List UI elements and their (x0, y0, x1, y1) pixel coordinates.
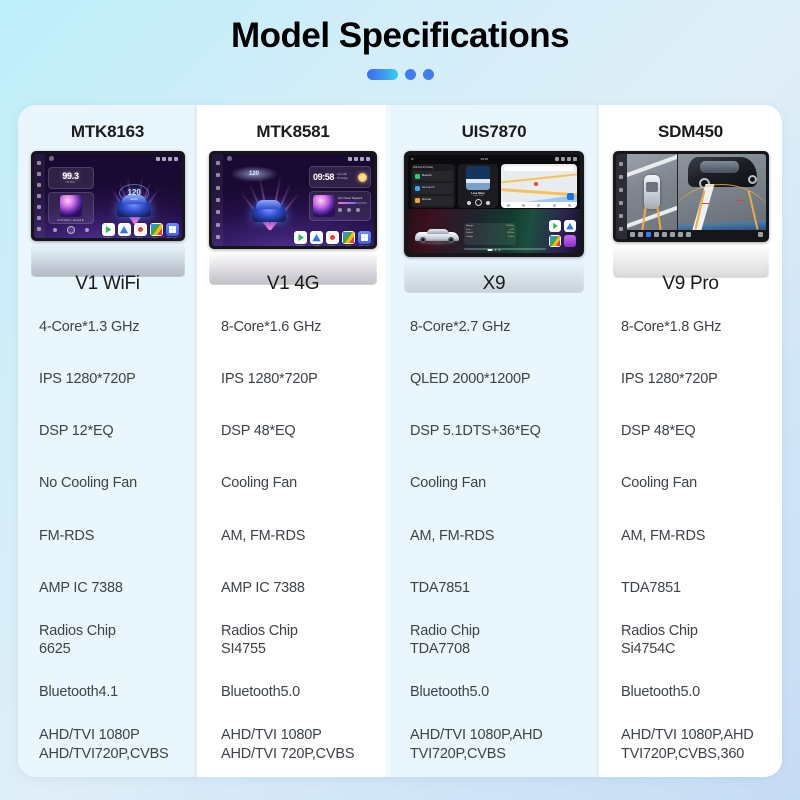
status-right-icons (555, 157, 577, 161)
head-unit-bezel: 120 km/h 99.3 FM MHz Hi-Fi Music / Jessi… (31, 151, 185, 241)
car-top-view-graphic (644, 175, 660, 209)
chipset-name: MTK8163 (18, 105, 197, 151)
car-graphic (117, 199, 151, 217)
side-rail[interactable] (616, 154, 627, 239)
rail-icon-music[interactable] (619, 201, 623, 205)
app-label: Maps (340, 245, 357, 246)
spec-cpu: 8-Core*1.6 GHz (197, 301, 389, 353)
record-icon[interactable] (678, 232, 683, 237)
pagination-active-pill[interactable] (367, 69, 398, 80)
weather-icon (358, 173, 367, 182)
rail-icon-settings[interactable] (216, 235, 220, 239)
app-icon-music[interactable]: Music (134, 223, 147, 236)
spec-list: 4-Core*1.3 GHz IPS 1280*720P DSP 12*EQ N… (18, 301, 197, 777)
pagination-dot-2[interactable] (405, 69, 416, 80)
head-unit-bezel: ⚙ 09:35 2024.02.23 Friday (404, 151, 584, 257)
model-name: V9 Pro (599, 273, 782, 295)
device-preview-v1wifi: 120 km/h 99.3 FM MHz Hi-Fi Music / Jessi… (18, 151, 197, 301)
album-art (60, 195, 82, 217)
vehicle-info-key: Mileage (466, 225, 473, 227)
speed-halo: 120 (230, 166, 278, 182)
app-icon-maps[interactable]: Maps (150, 223, 163, 236)
specifications-card: MTK8163 (18, 105, 782, 777)
app-label: Driver Cu (356, 245, 373, 246)
spec-display: IPS 1280*720P (599, 353, 782, 405)
recorder-icon (415, 198, 420, 203)
vehicle-info-row: Mileage 1126 km (466, 225, 514, 227)
spec-bluetooth: Bluetooth5.0 (389, 667, 599, 719)
status-left-icons (227, 156, 232, 161)
spec-camera-input: AHD/TVI 1080P AHD/TVI720P,CVBS (18, 719, 197, 771)
car-3d-render (413, 226, 461, 246)
spec-radio-bands: AM, FM-RDS (389, 510, 599, 562)
vehicle-info-key: Fuel/oil (466, 232, 473, 234)
prev-icon[interactable] (338, 208, 342, 212)
speedometer: 120 km/h (119, 184, 149, 202)
widget-item-carlink[interactable]: Car Link 2.0 (413, 183, 453, 193)
brush-icon[interactable] (686, 232, 691, 237)
spec-amplifier: AMP IC 7388 (18, 562, 197, 614)
spec-bluetooth: Bluetooth5.0 (197, 667, 389, 719)
app-dock[interactable] (549, 220, 576, 247)
play-icon[interactable] (475, 199, 482, 206)
page-dot-active[interactable] (488, 249, 493, 251)
app-label: Music (324, 245, 341, 246)
play-icon[interactable] (67, 226, 75, 234)
app-icon-carplay[interactable]: CarPlay (294, 231, 307, 244)
rail-icon-music[interactable] (37, 194, 41, 198)
app-icon-auto[interactable]: AUTO (310, 231, 323, 244)
media-subtitle: Taylor Swift (473, 195, 483, 197)
right-view-icon[interactable] (662, 232, 667, 237)
front-view-icon[interactable] (638, 232, 643, 237)
rail-icon-settings[interactable] (619, 227, 623, 231)
power-icon (567, 157, 571, 161)
app-icon-carplay[interactable] (549, 220, 561, 232)
status-bar (45, 154, 182, 163)
speed-unit: km/h (131, 197, 138, 201)
status-right-icons (348, 157, 370, 161)
app-icon-auto[interactable] (564, 220, 576, 232)
wifi-icon (49, 156, 54, 161)
progress-bar[interactable] (338, 202, 367, 204)
radio-band-label: FM MHz (66, 181, 76, 184)
app-icon-carplay[interactable]: CarPlay (102, 223, 115, 236)
status-left-icons (49, 156, 54, 161)
prev-icon[interactable] (53, 228, 57, 232)
vehicle-info-row: Time 0:41 (466, 229, 514, 231)
speed-value: 120 (249, 171, 259, 177)
spec-amplifier: TDA7851 (599, 562, 782, 614)
rail-icon-apps[interactable] (37, 172, 41, 176)
page-dot[interactable] (499, 249, 501, 251)
app-label: Auto (116, 237, 133, 238)
camera-toolbar[interactable] (627, 230, 766, 239)
rail-icon-radio[interactable] (37, 183, 41, 187)
vehicle-info-value: 0:41 (510, 229, 514, 231)
app-icon-all-apps[interactable]: Driver Cu (166, 223, 179, 236)
media-widget[interactable]: Love Story Taylor Swift (458, 164, 498, 208)
home-page-indicator[interactable] (488, 249, 501, 251)
app-dock[interactable]: CarPlay Auto Music Maps Driver Cu (102, 223, 179, 236)
map-tab-updates[interactable] (568, 204, 571, 207)
spec-column-sdm450[interactable]: SDM450 (599, 105, 782, 777)
camera-icon[interactable] (630, 232, 635, 237)
spec-column-mtk8581[interactable]: MTK8581 (197, 105, 389, 777)
next-icon[interactable] (356, 208, 360, 212)
volume-icon (555, 157, 559, 161)
rear-view-icon[interactable] (646, 232, 651, 237)
volume-icon (162, 157, 166, 161)
status-bar (223, 154, 374, 163)
album-art (313, 195, 335, 217)
map-pin-icon (534, 182, 538, 186)
camera-split-view (627, 154, 766, 230)
vehicle-info-value: 288 km (507, 232, 514, 234)
map-road (501, 172, 577, 184)
side-rail[interactable] (34, 154, 45, 238)
back-icon[interactable] (174, 157, 178, 161)
play-icon[interactable] (347, 208, 351, 212)
next-icon[interactable] (85, 228, 89, 232)
device-reflection (31, 241, 185, 277)
pagination-dot-3[interactable] (423, 69, 434, 80)
top-down-view[interactable] (627, 154, 677, 230)
rail-icon-music[interactable] (216, 198, 220, 202)
chipset-name: UIS7870 (389, 105, 599, 151)
panel-slider[interactable] (464, 248, 546, 250)
spec-list: 8-Core*1.6 GHz IPS 1280*720P DSP 48*EQ C… (197, 301, 389, 777)
rail-icon-radio[interactable] (216, 186, 220, 190)
chipset-name: SDM450 (599, 105, 782, 151)
widget-item-recorder[interactable]: Recorder (413, 196, 453, 206)
vehicle-info-value: 1126 km (506, 225, 514, 227)
clock-time: 09:58 (313, 172, 334, 182)
back-icon[interactable] (573, 157, 577, 161)
playback-controls[interactable] (467, 199, 490, 206)
rail-icon-home[interactable] (216, 161, 220, 165)
spec-camera-input: AHD/TVI 1080P,AHD TVI720P,CVBS,360 (599, 719, 782, 771)
device-preview-v14g: 120 09:58 June 8th Thursday Hi-Fi Music … (197, 151, 389, 301)
clock-date: June 8th Thursday (337, 173, 348, 180)
road-animation (231, 174, 306, 230)
spec-radio-chip: Radios Chip SI4755 (197, 614, 389, 666)
spec-radio-bands: AM, FM-RDS (197, 510, 389, 562)
spec-amplifier: AMP IC 7388 (197, 562, 389, 614)
spec-column-mtk8163[interactable]: MTK8163 (18, 105, 197, 777)
head-unit-bezel: 120 09:58 June 8th Thursday Hi-Fi Music … (209, 151, 377, 249)
signal-icon (156, 157, 160, 161)
playback-controls[interactable] (48, 224, 94, 235)
app-icon-assistant[interactable] (564, 235, 576, 247)
rail-icon-apps[interactable] (216, 173, 220, 177)
map-tab-go[interactable] (522, 204, 525, 207)
radio-widget[interactable]: 99.3 FM MHz (48, 167, 94, 189)
head-unit-screen: ⚙ 09:35 2024.02.23 Friday (408, 155, 580, 253)
spec-cooling: Cooling Fan (389, 458, 599, 510)
spec-cpu: 8-Core*1.8 GHz (599, 301, 782, 353)
app-label: Maps (148, 237, 165, 238)
clock-widget[interactable]: 09:58 June 8th Thursday (309, 166, 371, 188)
widget-date: 2024.02.23 Friday (413, 166, 453, 169)
side-rail[interactable] (212, 154, 223, 246)
rail-icon-home[interactable] (619, 162, 623, 166)
carousel-pagination[interactable] (0, 68, 800, 80)
spec-list: 8-Core*2.7 GHz QLED 2000*1200P DSP 5.1DT… (389, 301, 599, 777)
rail-icon-camera[interactable] (619, 214, 623, 218)
carlink-icon (415, 186, 420, 191)
album-art (466, 166, 490, 190)
back-icon[interactable] (366, 157, 370, 161)
spec-cpu: 4-Core*1.3 GHz (18, 301, 197, 353)
music-title: Hi-Fi Music / Jessica B (57, 219, 83, 222)
distance-marker (702, 203, 710, 205)
model-name: V1 WiFi (18, 273, 197, 295)
spec-camera-input: AHD/TVI 1080P AHD/TVI 720P,CVBS (197, 719, 389, 771)
status-bar: ⚙ 09:35 (408, 155, 580, 163)
rail-icon-nav[interactable] (216, 210, 220, 214)
spec-radio-bands: AM, FM-RDS (599, 510, 782, 562)
map-widget[interactable] (501, 164, 577, 208)
radio-frequency: 99.3 (62, 171, 78, 181)
model-name: V1 4G (197, 273, 389, 295)
rear-camera-view[interactable] (678, 154, 766, 230)
map-tab-contribute[interactable] (553, 204, 556, 207)
spec-cooling: No Cooling Fan (18, 458, 197, 510)
app-icon-auto[interactable]: Auto (118, 223, 131, 236)
map-search-bar[interactable] (504, 166, 574, 171)
music-player-widget[interactable]: Hi-Fi Music Playback (309, 191, 371, 221)
car-graphic (252, 204, 286, 222)
signal-icon (561, 157, 565, 161)
spec-dsp: DSP 48*EQ (197, 405, 389, 457)
vehicle-info-key: Voltage (466, 236, 473, 238)
spec-dsp: DSP 48*EQ (599, 405, 782, 457)
head-unit-screen: 120 km/h 99.3 FM MHz Hi-Fi Music / Jessi… (34, 154, 182, 238)
rail-icon-apps[interactable] (619, 175, 623, 179)
rail-icon-home[interactable] (37, 161, 41, 165)
music-widget[interactable]: Hi-Fi Music / Jessica B (48, 192, 94, 224)
head-unit-bezel (613, 151, 769, 242)
page-header: Model Specifications (0, 0, 800, 80)
rail-icon-bt[interactable] (216, 223, 220, 227)
status-time: 09:35 (481, 157, 489, 161)
spec-bluetooth: Bluetooth5.0 (599, 667, 782, 719)
app-label: Music (132, 237, 149, 238)
left-view-icon[interactable] (654, 232, 659, 237)
menu-icon[interactable] (227, 156, 232, 161)
vehicle-info-row: Voltage 12.4 V (466, 236, 514, 238)
spec-radio-bands: FM-RDS (18, 510, 197, 562)
widget-item-bluetooth[interactable]: Bluetooth (413, 171, 453, 181)
spec-column-uis7870[interactable]: UIS7870 ⚙ 09:35 (389, 105, 599, 777)
page-title: Model Specifications (0, 16, 800, 56)
spec-camera-input: AHD/TVI 1080P,AHD TVI720P,CVBS (389, 719, 599, 771)
playback-controls[interactable] (338, 208, 367, 212)
app-icon-maps[interactable] (549, 235, 561, 247)
map-tab-saved[interactable] (537, 204, 540, 207)
spec-radio-chip: Radios Chip 6625 (18, 614, 197, 666)
wifi-icon (354, 157, 358, 161)
map-tab-explore[interactable] (507, 204, 510, 207)
app-label: CarPlay (100, 237, 117, 238)
widget-item-title: Bluetooth (422, 175, 432, 178)
wheel-graphic (748, 175, 757, 184)
head-unit-screen (616, 154, 766, 239)
distance-marker (736, 200, 744, 202)
settings-icon[interactable] (758, 232, 763, 237)
status-right-icons (156, 157, 178, 161)
spec-amplifier: TDA7851 (389, 562, 599, 614)
prev-icon[interactable] (467, 201, 471, 205)
rail-icon-bt[interactable] (37, 216, 41, 220)
spec-bluetooth: Bluetooth4.1 (18, 667, 197, 719)
app-dock[interactable]: CarPlay AUTO Music Maps Driver Cu (294, 231, 371, 244)
power-icon (168, 157, 172, 161)
rail-icon-radio[interactable] (619, 188, 623, 192)
map-navigate-button[interactable] (567, 193, 574, 200)
head-unit-screen: 120 09:58 June 8th Thursday Hi-Fi Music … (212, 154, 374, 246)
spec-display: IPS 1280*720P (197, 353, 389, 405)
device-preview-x9: ⚙ 09:35 2024.02.23 Friday (389, 151, 599, 301)
status-widget[interactable]: 2024.02.23 Friday Bluetooth Car Link 2.0 (411, 164, 455, 208)
widget-item-title: Car Link 2.0 (422, 187, 434, 190)
rail-icon-nav[interactable] (37, 205, 41, 209)
vehicle-info-value: 12.4 V (508, 236, 514, 238)
player-title: Hi-Fi Music Playback (338, 197, 367, 200)
road-animation: 120 km/h (90, 176, 179, 224)
signal-icon (348, 157, 352, 161)
app-label: Driver Cu (164, 237, 181, 238)
model-name: X9 (389, 273, 599, 295)
next-icon[interactable] (486, 201, 490, 205)
map-tabbar[interactable] (501, 202, 577, 208)
spec-dsp: DSP 5.1DTS+36*EQ (389, 405, 599, 457)
spec-cpu: 8-Core*2.7 GHz (389, 301, 599, 353)
vehicle-info-key: Time (466, 229, 471, 231)
vehicle-info-row: Fuel/oil 288 km (466, 232, 514, 234)
settings-icon[interactable]: ⚙ (411, 157, 414, 161)
widget-item-title: Recorder (422, 199, 431, 202)
app-label: CarPlay (292, 245, 309, 246)
spec-list: 8-Core*1.8 GHz IPS 1280*720P DSP 48*EQ C… (599, 301, 782, 777)
app-icon-maps[interactable]: Maps (342, 231, 355, 244)
home-lower-panel: Mileage 1126 km Time 0:41 Fuel/oil 288 k… (408, 209, 580, 253)
spec-dsp: DSP 12*EQ (18, 405, 197, 457)
app-icon-music[interactable]: Music (326, 231, 339, 244)
spec-radio-chip: Radios Chip Si4754C (599, 614, 782, 666)
spec-radio-chip: Radio Chip TDA7708 (389, 614, 599, 666)
spec-display: IPS 1280*720P (18, 353, 197, 405)
top-view-icon[interactable] (670, 232, 675, 237)
app-icon-all-apps[interactable]: Driver Cu (358, 231, 371, 244)
bluetooth-icon (415, 174, 420, 179)
spec-display: QLED 2000*1200P (389, 353, 599, 405)
app-label: AUTO (308, 245, 325, 246)
vehicle-info-widget[interactable]: Mileage 1126 km Time 0:41 Fuel/oil 288 k… (464, 223, 516, 245)
chipset-name: MTK8581 (197, 105, 389, 151)
spec-cooling: Cooling Fan (599, 458, 782, 510)
rail-icon-settings[interactable] (37, 227, 41, 231)
page-dot[interactable] (495, 249, 497, 251)
spec-cooling: Cooling Fan (197, 458, 389, 510)
device-preview-v9pro: V9 Pro (599, 151, 782, 301)
power-icon (360, 157, 364, 161)
